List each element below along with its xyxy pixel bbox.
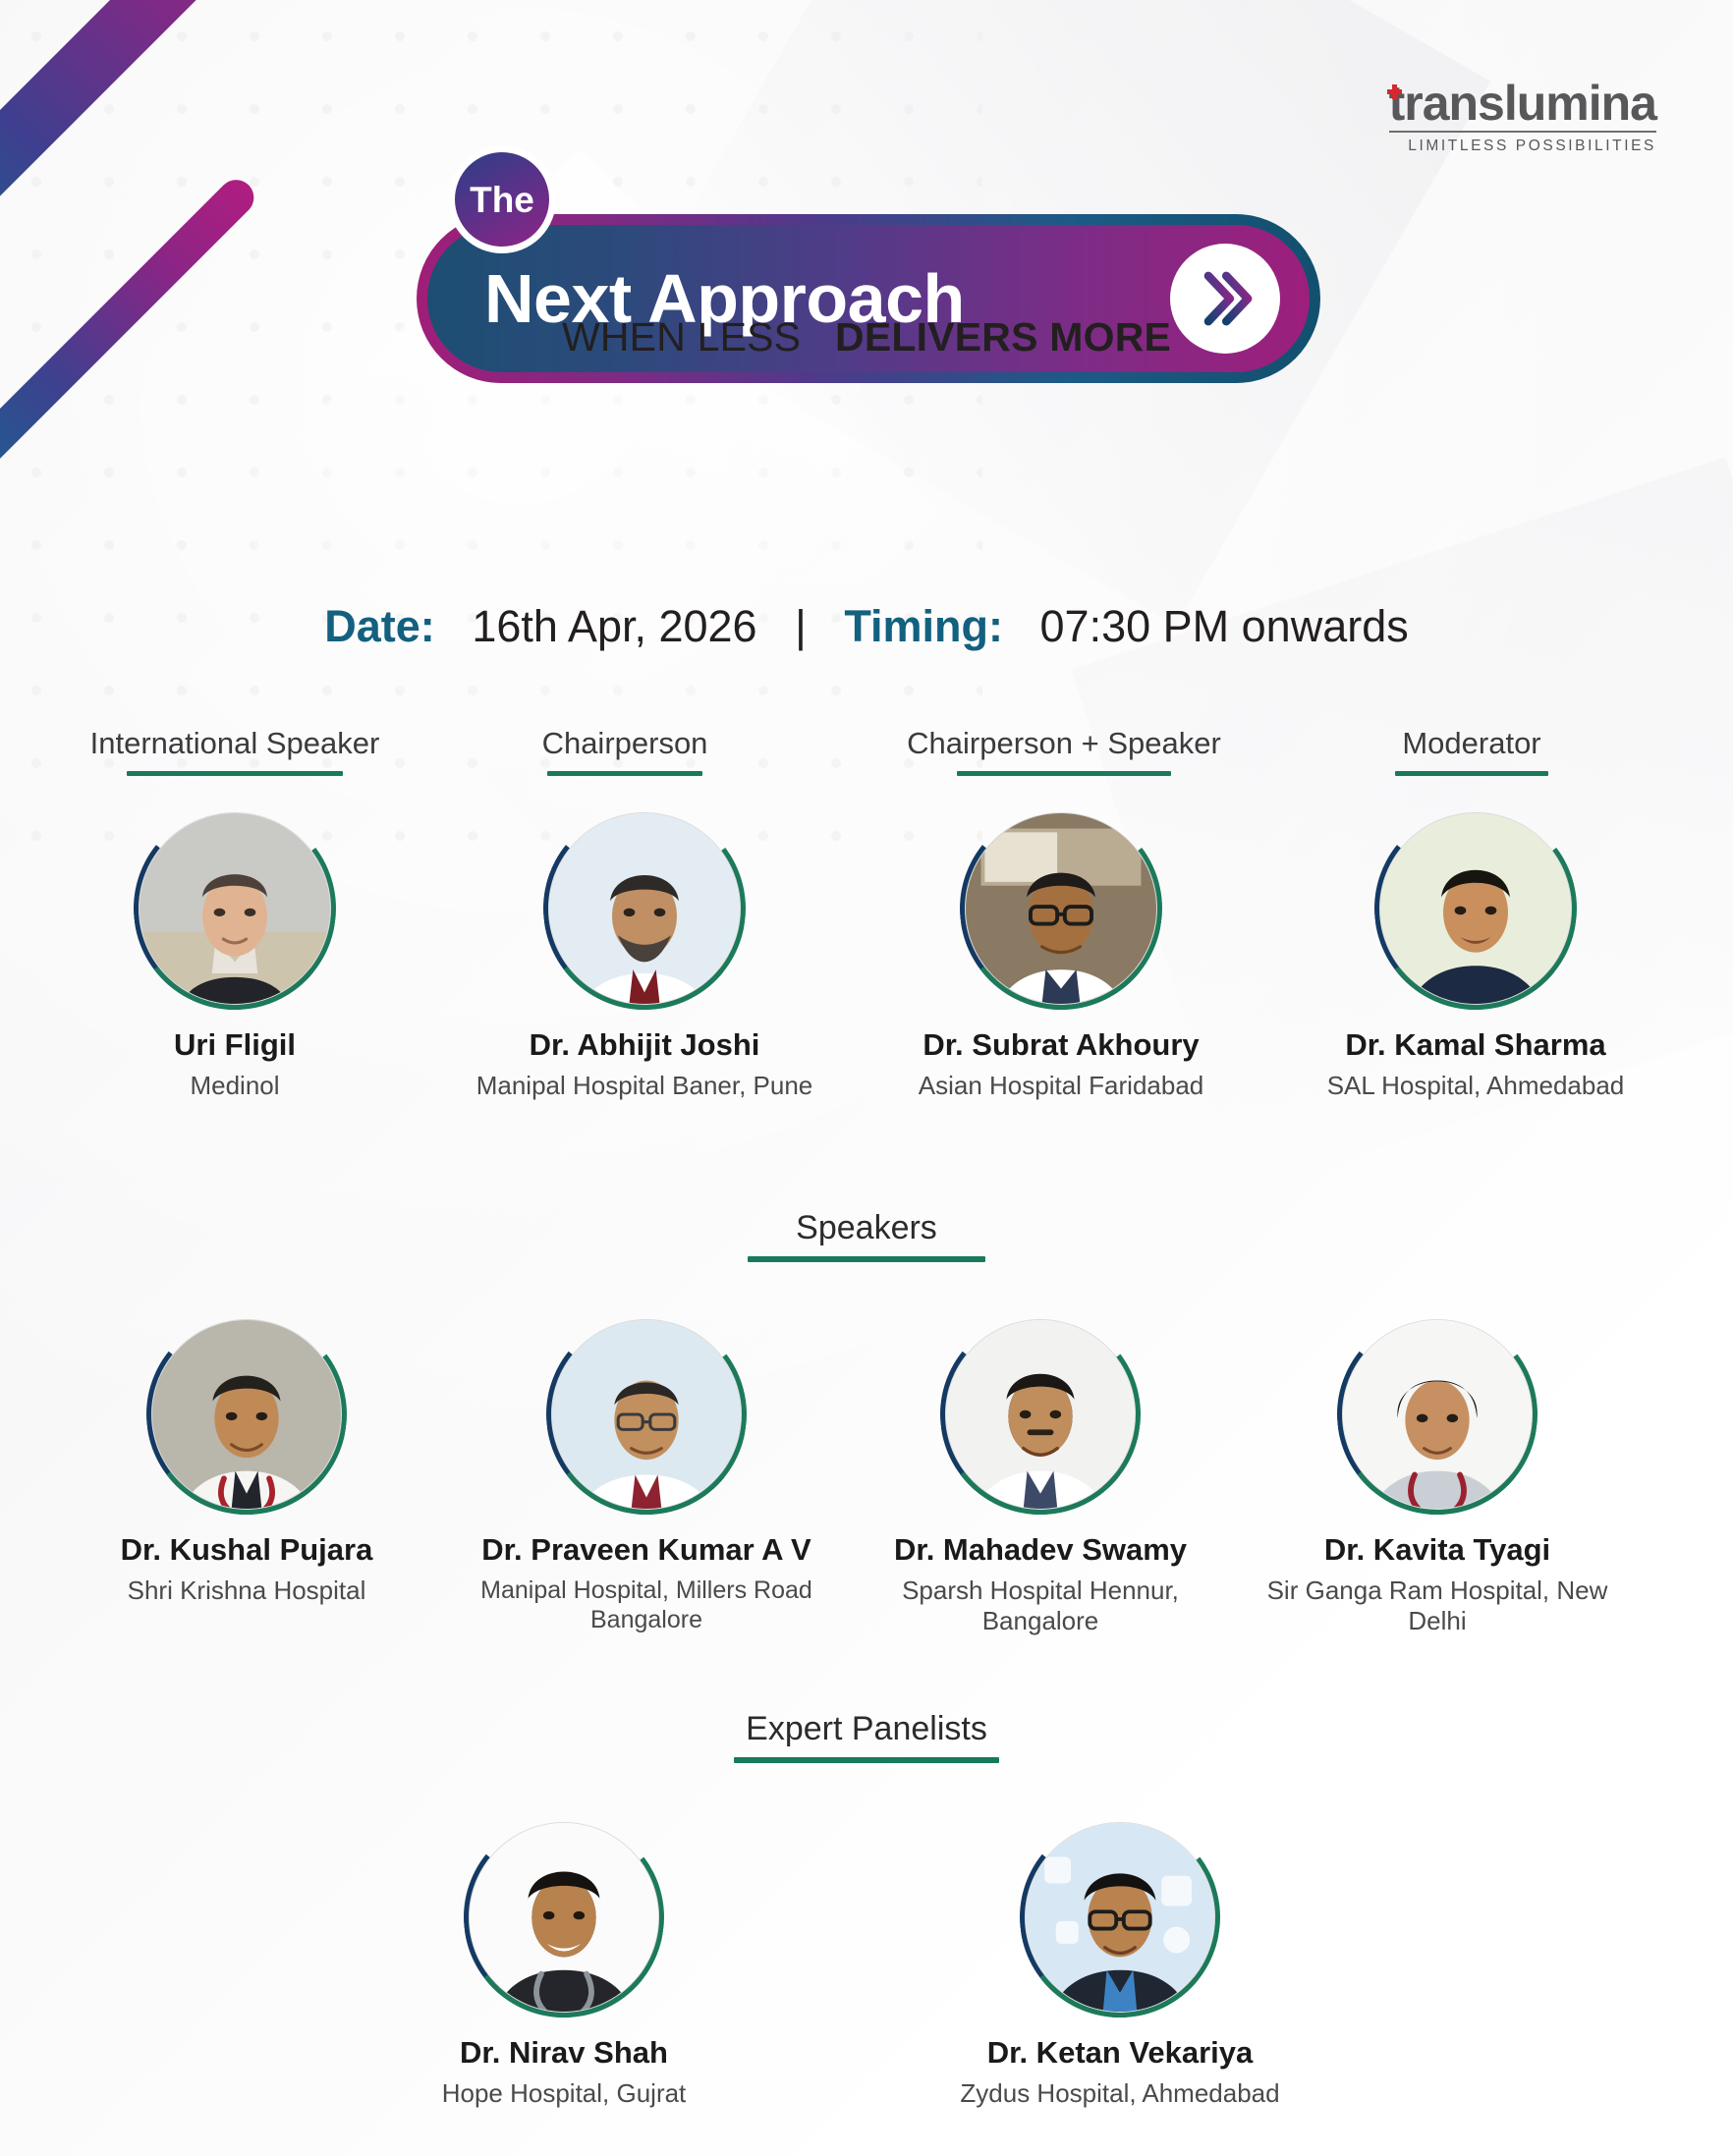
person-name: Dr. Kushal Pujara bbox=[59, 1532, 434, 1569]
date-label: Date: bbox=[324, 601, 435, 651]
person-card: Dr. Praveen Kumar A V Manipal Hospital, … bbox=[454, 1314, 839, 1635]
person-card: Dr. Abhijit Joshi Manipal Hospital Baner… bbox=[458, 807, 831, 1101]
role-heading-label: International Speaker bbox=[43, 727, 426, 760]
the-badge-label: The bbox=[470, 182, 534, 218]
avatar-photo bbox=[965, 812, 1157, 1005]
avatar-photo bbox=[551, 1319, 742, 1510]
logo-wordmark-text: translumina bbox=[1389, 76, 1656, 131]
person-affiliation: Sparsh Hospital Hennur, Bangalore bbox=[853, 1576, 1228, 1637]
person-name: Dr. Abhijit Joshi bbox=[458, 1027, 831, 1064]
avatar bbox=[960, 807, 1162, 1010]
person-name: Dr. Praveen Kumar A V bbox=[454, 1532, 839, 1569]
role-underline bbox=[957, 771, 1171, 776]
avatar-photo bbox=[548, 812, 741, 1005]
logo-wordmark: translumina bbox=[1389, 79, 1656, 128]
avatar-photo bbox=[151, 1319, 342, 1510]
tagline-light-part: WHEN LESS bbox=[562, 314, 801, 359]
avatar bbox=[546, 1314, 747, 1515]
event-tagline: WHEN LESS DELIVERS MORE bbox=[0, 314, 1733, 360]
poster-canvas: translumina LIMITLESS POSSIBILITIES Next… bbox=[0, 0, 1733, 2156]
avatar bbox=[543, 807, 746, 1010]
avatar-photo bbox=[469, 1822, 659, 2013]
person-card: Dr. Kamal Sharma SAL Hospital, Ahmedabad bbox=[1299, 807, 1652, 1101]
person-name: Dr. Nirav Shah bbox=[383, 2035, 745, 2072]
role-underline bbox=[547, 771, 702, 776]
avatar bbox=[464, 1817, 664, 2018]
person-affiliation: Zydus Hospital, Ahmedabad bbox=[933, 2078, 1307, 2110]
logo-divider bbox=[1389, 131, 1656, 133]
person-card: Dr. Kushal Pujara Shri Krishna Hospital bbox=[59, 1314, 434, 1606]
date-value: 16th Apr, 2026 bbox=[472, 601, 756, 651]
time-value: 07:30 PM onwards bbox=[1040, 601, 1409, 651]
person-name: Dr. Ketan Vekariya bbox=[933, 2035, 1307, 2072]
person-affiliation: Manipal Hospital, Millers Road Bangalore bbox=[454, 1576, 839, 1635]
avatar bbox=[940, 1314, 1141, 1515]
avatar-photo bbox=[1342, 1319, 1533, 1510]
section-heading-label: Expert Panelists bbox=[0, 1711, 1733, 1747]
section-underline bbox=[748, 1256, 985, 1262]
role-heading-label: Chairperson bbox=[458, 727, 792, 760]
person-card: Dr. Ketan Vekariya Zydus Hospital, Ahmed… bbox=[933, 1817, 1307, 2109]
role-underline bbox=[127, 771, 343, 776]
title-block: Next Approach bbox=[0, 145, 1733, 440]
person-affiliation: Shri Krishna Hospital bbox=[59, 1576, 434, 1607]
person-card: Dr. Kavita Tyagi Sir Ganga Ram Hospital,… bbox=[1250, 1314, 1625, 1637]
section-underline bbox=[734, 1757, 999, 1763]
section-heading-expert-panelists: Expert Panelists bbox=[0, 1711, 1733, 1763]
avatar bbox=[146, 1314, 347, 1515]
avatar bbox=[1374, 807, 1577, 1010]
section-heading-label: Speakers bbox=[0, 1210, 1733, 1246]
time-label: Timing: bbox=[844, 601, 1003, 651]
person-card: Dr. Nirav Shah Hope Hospital, Gujrat bbox=[383, 1817, 745, 2109]
person-name: Dr. Kamal Sharma bbox=[1299, 1027, 1652, 1064]
avatar-photo bbox=[1025, 1822, 1215, 2013]
avatar-photo bbox=[1379, 812, 1572, 1005]
tagline-bold-part: DELIVERS MORE bbox=[835, 314, 1171, 359]
person-affiliation: Sir Ganga Ram Hospital, New Delhi bbox=[1250, 1576, 1625, 1637]
person-affiliation: Manipal Hospital Baner, Pune bbox=[458, 1071, 831, 1102]
the-badge: The bbox=[448, 145, 556, 253]
role-heading-chairperson-speaker: Chairperson + Speaker bbox=[865, 727, 1263, 776]
person-affiliation: Asian Hospital Faridabad bbox=[865, 1071, 1258, 1102]
person-affiliation: SAL Hospital, Ahmedabad bbox=[1299, 1071, 1652, 1102]
person-name: Dr. Mahadev Swamy bbox=[853, 1532, 1228, 1569]
role-heading-international-speaker: International Speaker bbox=[43, 727, 426, 776]
person-card: Dr. Mahadev Swamy Sparsh Hospital Hennur… bbox=[853, 1314, 1228, 1637]
datetime-separator: | bbox=[769, 601, 832, 651]
avatar-photo bbox=[945, 1319, 1136, 1510]
person-card: Dr. Subrat Akhoury Asian Hospital Farida… bbox=[865, 807, 1258, 1101]
avatar bbox=[134, 807, 336, 1010]
role-heading-chairperson: Chairperson bbox=[458, 727, 792, 776]
person-name: Dr. Kavita Tyagi bbox=[1250, 1532, 1625, 1569]
event-datetime: Date: 16th Apr, 2026 | Timing: 07:30 PM … bbox=[0, 601, 1733, 652]
role-underline bbox=[1395, 771, 1548, 776]
person-name: Dr. Subrat Akhoury bbox=[865, 1027, 1258, 1064]
avatar bbox=[1337, 1314, 1537, 1515]
avatar bbox=[1020, 1817, 1220, 2018]
person-card: Uri Fligil Medinol bbox=[43, 807, 426, 1101]
person-name: Uri Fligil bbox=[43, 1027, 426, 1064]
role-heading-moderator: Moderator bbox=[1307, 727, 1637, 776]
role-heading-label: Chairperson + Speaker bbox=[865, 727, 1263, 760]
section-heading-speakers: Speakers bbox=[0, 1210, 1733, 1262]
person-affiliation: Medinol bbox=[43, 1071, 426, 1102]
role-heading-label: Moderator bbox=[1307, 727, 1637, 760]
translumina-logo: translumina LIMITLESS POSSIBILITIES bbox=[1389, 79, 1656, 155]
person-affiliation: Hope Hospital, Gujrat bbox=[383, 2078, 745, 2110]
avatar-photo bbox=[139, 812, 331, 1005]
